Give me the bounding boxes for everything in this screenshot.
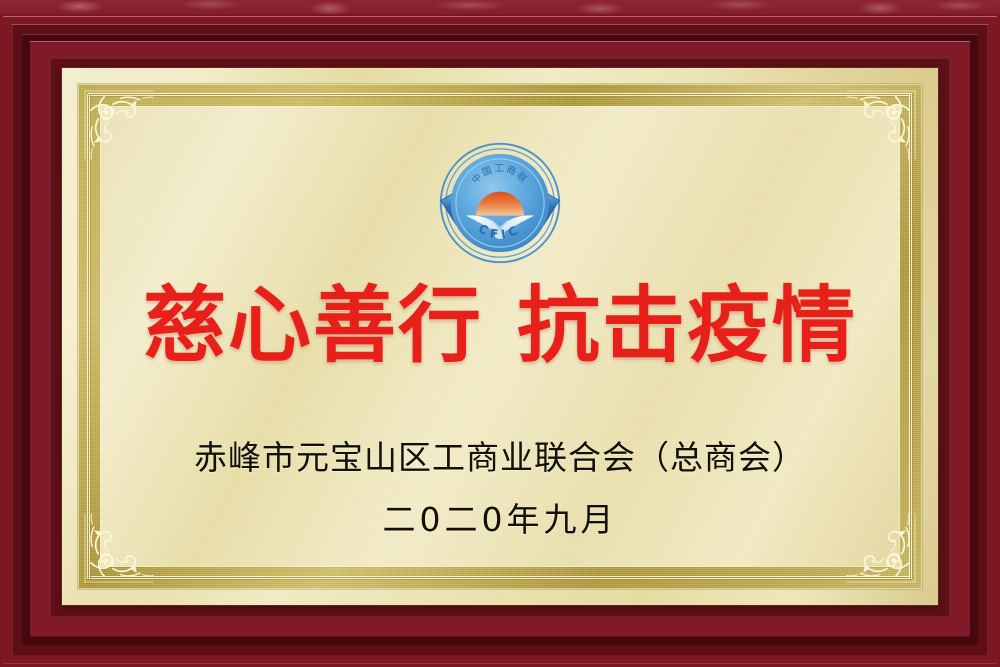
issue-date: 二0二0年九月 xyxy=(383,493,618,541)
frame-marble-strip xyxy=(0,0,1000,14)
page-title: 慈心善行抗击疫情 xyxy=(143,284,857,369)
headline-phrase-1: 慈心善行 xyxy=(143,277,483,374)
award-plaque: 中国工商联 CFIC 慈心善行抗击疫情 赤峰市元宝山区工商业联合会（总商会） 二… xyxy=(0,0,1000,667)
issuing-organization: 赤峰市元宝山区工商业联合会（总商会） xyxy=(194,431,806,479)
plaque-content: 中国工商联 CFIC 慈心善行抗击疫情 赤峰市元宝山区工商业联合会（总商会） 二… xyxy=(62,68,938,605)
cfic-emblem-icon: 中国工商联 CFIC xyxy=(437,140,563,266)
headline-phrase-2: 抗击疫情 xyxy=(517,277,857,374)
gold-plaque-panel: 中国工商联 CFIC 慈心善行抗击疫情 赤峰市元宝山区工商业联合会（总商会） 二… xyxy=(62,68,938,605)
